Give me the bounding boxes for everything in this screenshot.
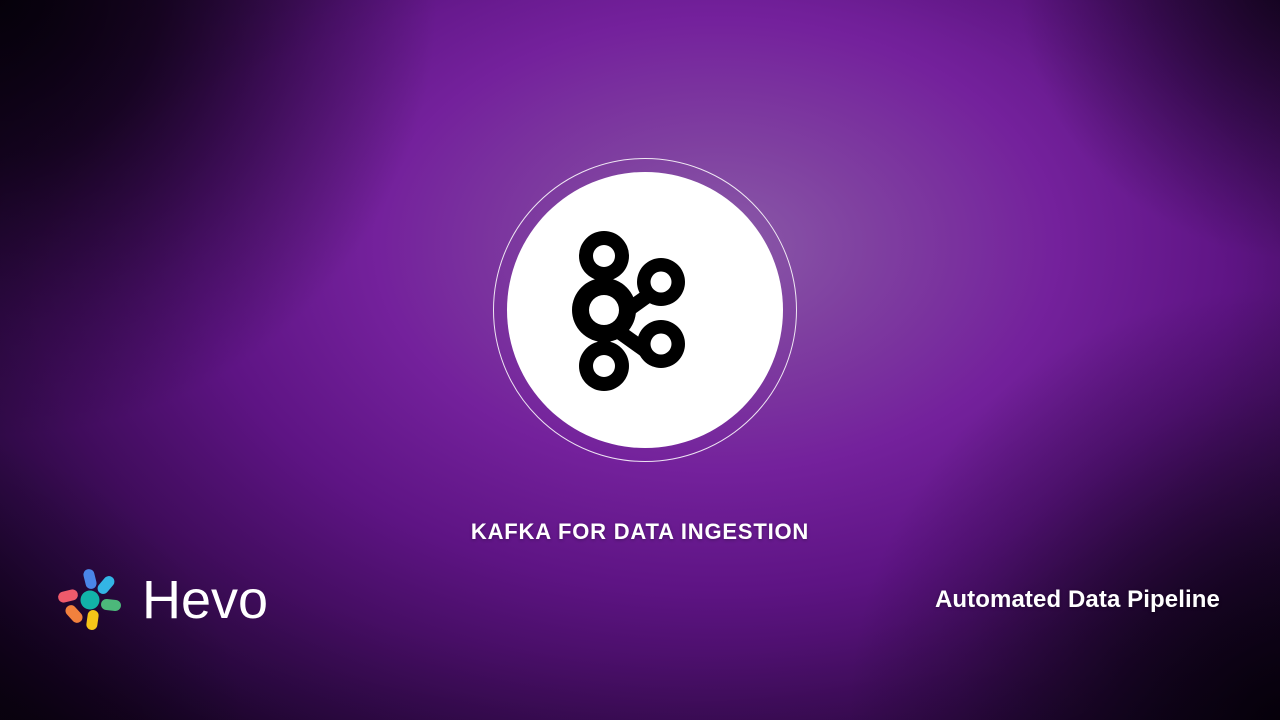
kafka-logo-badge (493, 158, 797, 462)
page-title: KAFKA FOR DATA INGESTION (0, 518, 1280, 546)
brand-wordmark: Hevo (142, 572, 268, 628)
hevo-pinwheel-icon (56, 566, 124, 634)
apache-kafka-icon (555, 220, 735, 400)
slide-canvas: KAFKA FOR DATA INGESTION Hevo (0, 0, 1280, 720)
brand-lockup[interactable]: Hevo (56, 566, 268, 634)
tagline-text: Automated Data Pipeline (935, 585, 1220, 615)
